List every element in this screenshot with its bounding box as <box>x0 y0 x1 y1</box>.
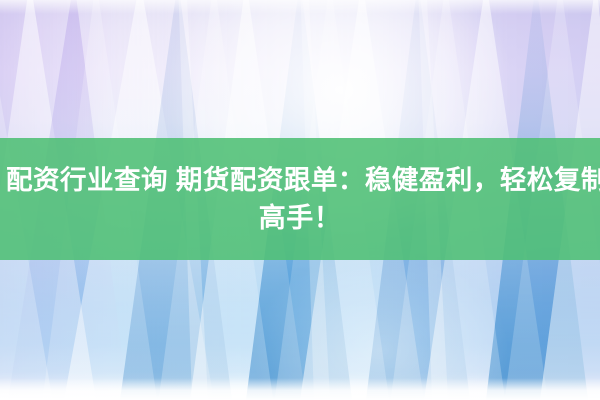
caption-line-1: 配资行业查询 期货配资跟单：稳健盈利，轻松复制 <box>0 161 600 199</box>
banner-image: 配资行业查询 期货配资跟单：稳健盈利，轻松复制 高手！ <box>0 0 600 400</box>
caption-banner: 配资行业查询 期货配资跟单：稳健盈利，轻松复制 高手！ <box>0 138 600 260</box>
top-edge-fade <box>0 0 600 14</box>
bottom-edge-fade <box>0 378 600 400</box>
caption-line-2: 高手！ <box>259 199 342 237</box>
